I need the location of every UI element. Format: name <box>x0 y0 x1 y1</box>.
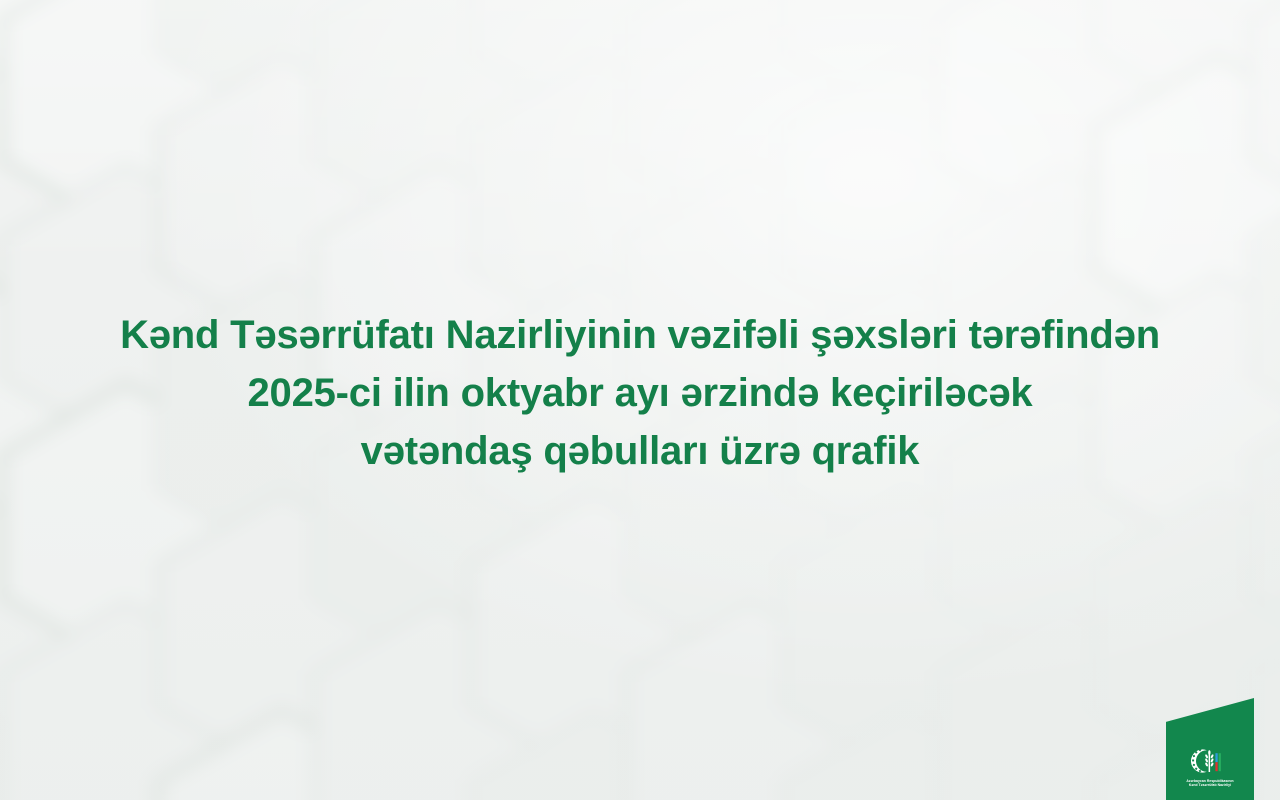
title-line-1: Kənd Təsərrüfatı Nazirliyinin vəzifəli ş… <box>28 306 1252 364</box>
slide-root: Kənd Təsərrüfatı Nazirliyinin vəzifəli ş… <box>0 0 1280 800</box>
logo-content: Azərbaycan Respublikasının Kənd Təsərrüf… <box>1166 747 1254 788</box>
ministry-of-agriculture-emblem-icon <box>1190 747 1230 775</box>
logo-text-line-2: Kənd Təsərrüfatı Nazirliyi <box>1189 783 1231 788</box>
title-line-2: 2025-ci ilin oktyabr ayı ərzində keçiril… <box>28 364 1252 422</box>
page-title: Kənd Təsərrüfatı Nazirliyinin vəzifəli ş… <box>0 306 1280 480</box>
title-line-3: vətəndaş qəbulları üzrə qrafik <box>28 422 1252 480</box>
